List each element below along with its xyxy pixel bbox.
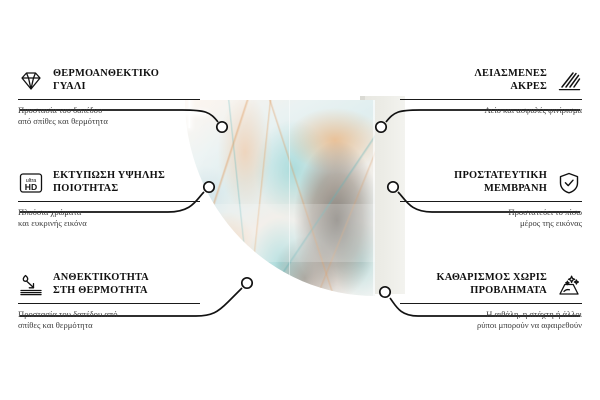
feature-description: Πλούσια χρώματακαι ευκρινής εικόνα	[18, 207, 200, 229]
feature-description: Λείο και ασφαλές φινίρισμα	[400, 105, 582, 116]
feature-easy-cleaning: ΚΑΘΑΡΙΣΜΟΣ ΧΩΡΙΣΠΡΟΒΛΗΜΑΤΑ Η αιθάλη, η σ…	[400, 270, 582, 331]
feature-description: Προστασία του δαπέδουαπό σπίθες και θερμ…	[18, 105, 200, 127]
easy-clean-icon	[556, 273, 582, 297]
feature-divider	[18, 303, 200, 304]
feature-divider	[400, 303, 582, 304]
connector-endpoint-left-2	[204, 182, 214, 192]
feature-title: ΑΝΘΕΚΤΙΚΟΤΗΤΑΣΤΗ ΘΕΡΜΟΤΗΤΑ	[53, 272, 149, 297]
feature-title: ΠΡΟΣΤΑΤΕΥΤΙΚΗΜΕΜΒΡΑΝΗ	[454, 170, 547, 195]
diamond-icon	[18, 69, 44, 93]
connector-endpoint-right-1	[376, 122, 386, 132]
connector-endpoint-right-3	[380, 287, 390, 297]
feature-heat-resistant-glass: ΘΕΡΜΟΑΝΘΕΚΤΙΚΟΓΥΑΛΙ Προστασία του δαπέδο…	[18, 66, 200, 127]
shield-check-icon	[556, 171, 582, 195]
feature-divider	[18, 99, 200, 100]
connector-endpoint-left-1	[217, 122, 227, 132]
feature-header: ΛΕΙΑΣΜΕΝΕΣΑΚΡΕΣ	[400, 66, 582, 96]
feature-description: Η αιθάλη, η στάχτη ή άλλοιρύποι μπορούν …	[400, 309, 582, 331]
feature-heat-resistance: ΑΝΘΕΚΤΙΚΟΤΗΤΑΣΤΗ ΘΕΡΜΟΤΗΤΑ Προστασία του…	[18, 270, 200, 331]
feature-divider	[400, 201, 582, 202]
feature-title: ΚΑΘΑΡΙΣΜΟΣ ΧΩΡΙΣΠΡΟΒΛΗΜΑΤΑ	[437, 272, 547, 297]
feature-divider	[400, 99, 582, 100]
feature-description: Προστατεύει το πίσωμέρος της εικόνας	[400, 207, 582, 229]
feature-title: ΕΚΤΥΠΩΣΗ ΥΨΗΛΗΣΠΟΙΟΤΗΤΑΣ	[53, 170, 165, 195]
feature-header: ΑΝΘΕΚΤΙΚΟΤΗΤΑΣΤΗ ΘΕΡΜΟΤΗΤΑ	[18, 270, 200, 300]
feature-description: Προστασία του δαπέδου απόσπίθες και θερμ…	[18, 309, 200, 331]
heat-resistance-icon	[18, 273, 44, 297]
feature-header: ΘΕΡΜΟΑΝΘΕΚΤΙΚΟΓΥΑΛΙ	[18, 66, 200, 96]
feature-high-quality-print: ultra HD ΕΚΤΥΠΩΣΗ ΥΨΗΛΗΣΠΟΙΟΤΗΤΑΣ Πλούσι…	[18, 168, 200, 229]
connector-endpoint-right-2	[388, 182, 398, 192]
svg-text:HD: HD	[25, 182, 37, 192]
feature-header: ΚΑΘΑΡΙΣΜΟΣ ΧΩΡΙΣΠΡΟΒΛΗΜΑΤΑ	[400, 270, 582, 300]
feature-polished-edges: ΛΕΙΑΣΜΕΝΕΣΑΚΡΕΣ Λείο και ασφαλές φινίρισ…	[400, 66, 582, 116]
polished-edges-icon	[556, 69, 582, 93]
connector-endpoint-left-3	[242, 278, 252, 288]
feature-title: ΘΕΡΜΟΑΝΘΕΚΤΙΚΟΓΥΑΛΙ	[53, 68, 159, 93]
feature-header: ΠΡΟΣΤΑΤΕΥΤΙΚΗΜΕΜΒΡΑΝΗ	[400, 168, 582, 198]
feature-divider	[18, 201, 200, 202]
feature-header: ultra HD ΕΚΤΥΠΩΣΗ ΥΨΗΛΗΣΠΟΙΟΤΗΤΑΣ	[18, 168, 200, 198]
feature-protective-membrane: ΠΡΟΣΤΑΤΕΥΤΙΚΗΜΕΜΒΡΑΝΗ Προστατεύει το πίσ…	[400, 168, 582, 229]
ultra-hd-icon: ultra HD	[18, 171, 44, 195]
feature-title: ΛΕΙΑΣΜΕΝΕΣΑΚΡΕΣ	[474, 68, 547, 93]
